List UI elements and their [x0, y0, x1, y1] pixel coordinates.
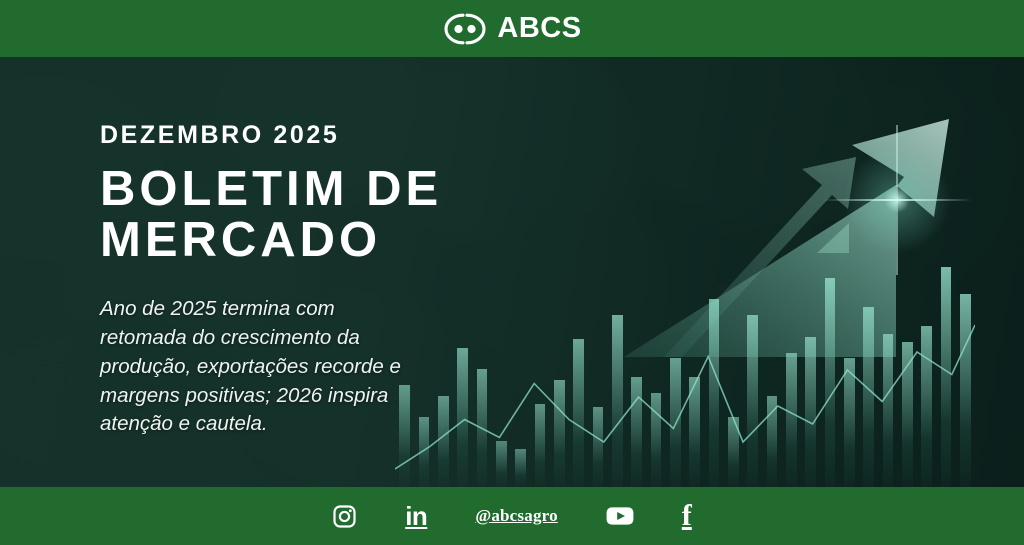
linkedin-icon: in — [405, 503, 427, 529]
facebook-icon: f — [682, 501, 692, 531]
hero-subtitle-line-2: retomada do crescimento da — [100, 326, 360, 349]
social-footer-bar: in @abcsagro f — [0, 487, 1024, 545]
youtube-icon — [606, 506, 634, 526]
hero-subtitle-line-5: atenção e cautela. — [100, 412, 268, 435]
social-handle-label: @abcsagro — [475, 506, 557, 526]
social-link-instagram[interactable] — [332, 504, 357, 529]
hero-subtitle-line-1: Ano de 2025 termina com — [100, 297, 335, 320]
hero-subtitle: Ano de 2025 termina com retomada do cres… — [100, 295, 495, 439]
top-header-bar: ABCS — [0, 0, 1024, 57]
hero-banner: DEZEMBRO 2025 BOLETIM DE MERCADO Ano de … — [0, 57, 1024, 487]
hero-copy: DEZEMBRO 2025 BOLETIM DE MERCADO Ano de … — [100, 123, 520, 439]
issue-date: DEZEMBRO 2025 — [100, 123, 520, 148]
brand-name: ABCS — [497, 14, 581, 43]
abcs-logo-mark-icon — [442, 12, 488, 46]
social-link-youtube[interactable] — [606, 506, 634, 526]
social-handle[interactable]: @abcsagro — [475, 506, 557, 526]
hero-subtitle-line-3: produção, exportações recorde e — [100, 355, 401, 378]
market-bulletin-cover: ABCS — [0, 0, 1024, 545]
hero-subtitle-line-4: margens positivas; 2026 inspira — [100, 384, 388, 407]
page-title: BOLETIM DE MERCADO — [100, 164, 520, 267]
social-link-linkedin[interactable]: in — [405, 503, 427, 529]
social-link-facebook[interactable]: f — [682, 501, 692, 531]
instagram-icon — [332, 504, 357, 529]
abcs-logo[interactable]: ABCS — [442, 12, 581, 46]
page-title-line-1: BOLETIM DE — [100, 162, 442, 216]
page-title-line-2: MERCADO — [100, 213, 381, 267]
